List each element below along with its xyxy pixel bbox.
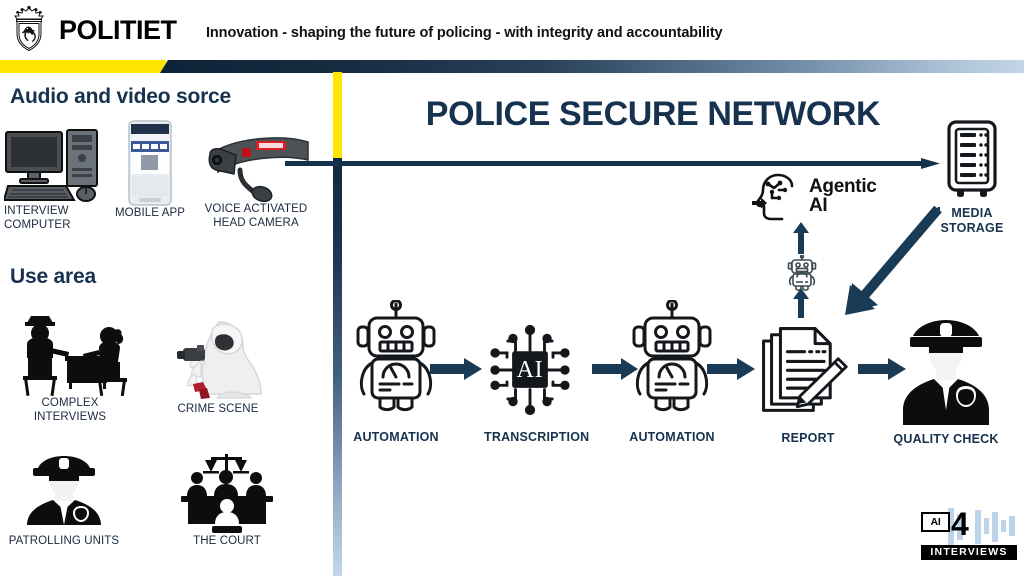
use-item-complex-interviews: COMPLEX INTERVIEWS bbox=[6, 310, 134, 424]
use-item-crime-scene: CRIME SCENE bbox=[155, 312, 281, 416]
flow-node-label: AUTOMATION bbox=[348, 430, 444, 444]
use-item-label: THE COURT bbox=[168, 534, 286, 548]
flow-node-label: TRANSCRIPTION bbox=[484, 430, 576, 444]
interviews-bar: INTERVIEWS bbox=[921, 545, 1017, 560]
robot-icon bbox=[624, 298, 720, 426]
police-officer-icon bbox=[5, 450, 123, 534]
source-item-label: INTERVIEW COMPUTER bbox=[2, 204, 110, 232]
ai-badge: AI bbox=[921, 512, 950, 532]
flow-node-report: REPORT bbox=[760, 315, 856, 445]
norwegian-coat-of-arms-icon bbox=[8, 6, 50, 54]
media-storage-arrow bbox=[285, 158, 940, 169]
source-item-mobile-app: MOBILE APP bbox=[112, 120, 188, 220]
ai-head-circuit-icon bbox=[752, 172, 806, 222]
waveform-bar bbox=[1001, 520, 1006, 532]
use-item-label: PATROLLING UNITS bbox=[5, 534, 123, 548]
courtroom-icon bbox=[168, 450, 286, 534]
ai-badge-text: AI bbox=[931, 517, 941, 528]
waveform-bar bbox=[1009, 516, 1015, 536]
automation-to-transcription-arrow bbox=[430, 358, 482, 380]
band-yellow-segment bbox=[0, 60, 166, 73]
header-color-band bbox=[0, 60, 1024, 73]
header-tagline: Innovation - shaping the future of polic… bbox=[206, 25, 723, 41]
logo-number-four: 4 bbox=[951, 508, 969, 540]
source-item-label: VOICE ACTIVATED HEAD CAMERA bbox=[192, 202, 320, 230]
use-item-label: CRIME SCENE bbox=[155, 402, 281, 416]
ai-chip-icon: AI bbox=[484, 306, 576, 426]
ai4interviews-logo: AI 4 INTERVIEWS bbox=[921, 508, 1017, 560]
agentic-to-quality-check-arrow bbox=[822, 205, 942, 325]
source-item-head-camera: VOICE ACTIVATED HEAD CAMERA bbox=[192, 128, 320, 230]
waveform-bar bbox=[992, 512, 998, 542]
source-item-label: MOBILE APP bbox=[112, 206, 188, 220]
document-stack-pencil-icon bbox=[760, 315, 856, 427]
band-navy-gradient-segment bbox=[160, 60, 1024, 73]
desktop-computer-icon bbox=[2, 126, 110, 204]
politiet-wordmark: POLITIET bbox=[59, 15, 177, 46]
flow-node-transcription: AI TRANSCRIPTION bbox=[484, 306, 576, 444]
use-item-label: COMPLEX INTERVIEWS bbox=[6, 396, 134, 424]
police-secure-network-title: POLICE SECURE NETWORK bbox=[373, 95, 933, 134]
source-item-interview-computer: INTERVIEW COMPUTER bbox=[2, 126, 110, 232]
use-item-the-court: THE COURT bbox=[168, 450, 286, 548]
flow-node-automation-2: AUTOMATION bbox=[624, 298, 720, 444]
flow-node-label: REPORT bbox=[760, 431, 856, 445]
automation-to-report-arrow bbox=[707, 358, 755, 380]
section-heading-audio-video-source: Audio and video sorce bbox=[10, 85, 231, 109]
ai-chip-text: AI bbox=[517, 357, 544, 383]
page-header: POLITIET Innovation - shaping the future… bbox=[0, 0, 1024, 60]
use-item-patrolling-units: PATROLLING UNITS bbox=[5, 450, 123, 548]
section-heading-use-area: Use area bbox=[10, 265, 96, 289]
forensic-investigator-icon bbox=[155, 312, 281, 402]
waveform-bar bbox=[975, 510, 981, 544]
waveform-bar bbox=[984, 518, 989, 534]
divider-gradient-segment bbox=[333, 158, 342, 576]
report-to-agentic-arrow bbox=[793, 288, 809, 318]
divider-yellow-segment bbox=[333, 72, 342, 162]
flow-node-label: AUTOMATION bbox=[624, 430, 720, 444]
police-officer-icon bbox=[890, 312, 1002, 428]
interview-table-icon bbox=[6, 310, 134, 396]
politiet-logo: POLITIET bbox=[8, 6, 177, 54]
interviews-text: INTERVIEWS bbox=[930, 547, 1007, 558]
smartphone-icon bbox=[112, 120, 188, 206]
flow-node-quality-check: QUALITY CHECK bbox=[890, 312, 1002, 446]
server-rack-icon bbox=[924, 118, 1020, 202]
flow-node-label: QUALITY CHECK bbox=[890, 432, 1002, 446]
robot-to-agentic-arrow bbox=[793, 222, 809, 254]
